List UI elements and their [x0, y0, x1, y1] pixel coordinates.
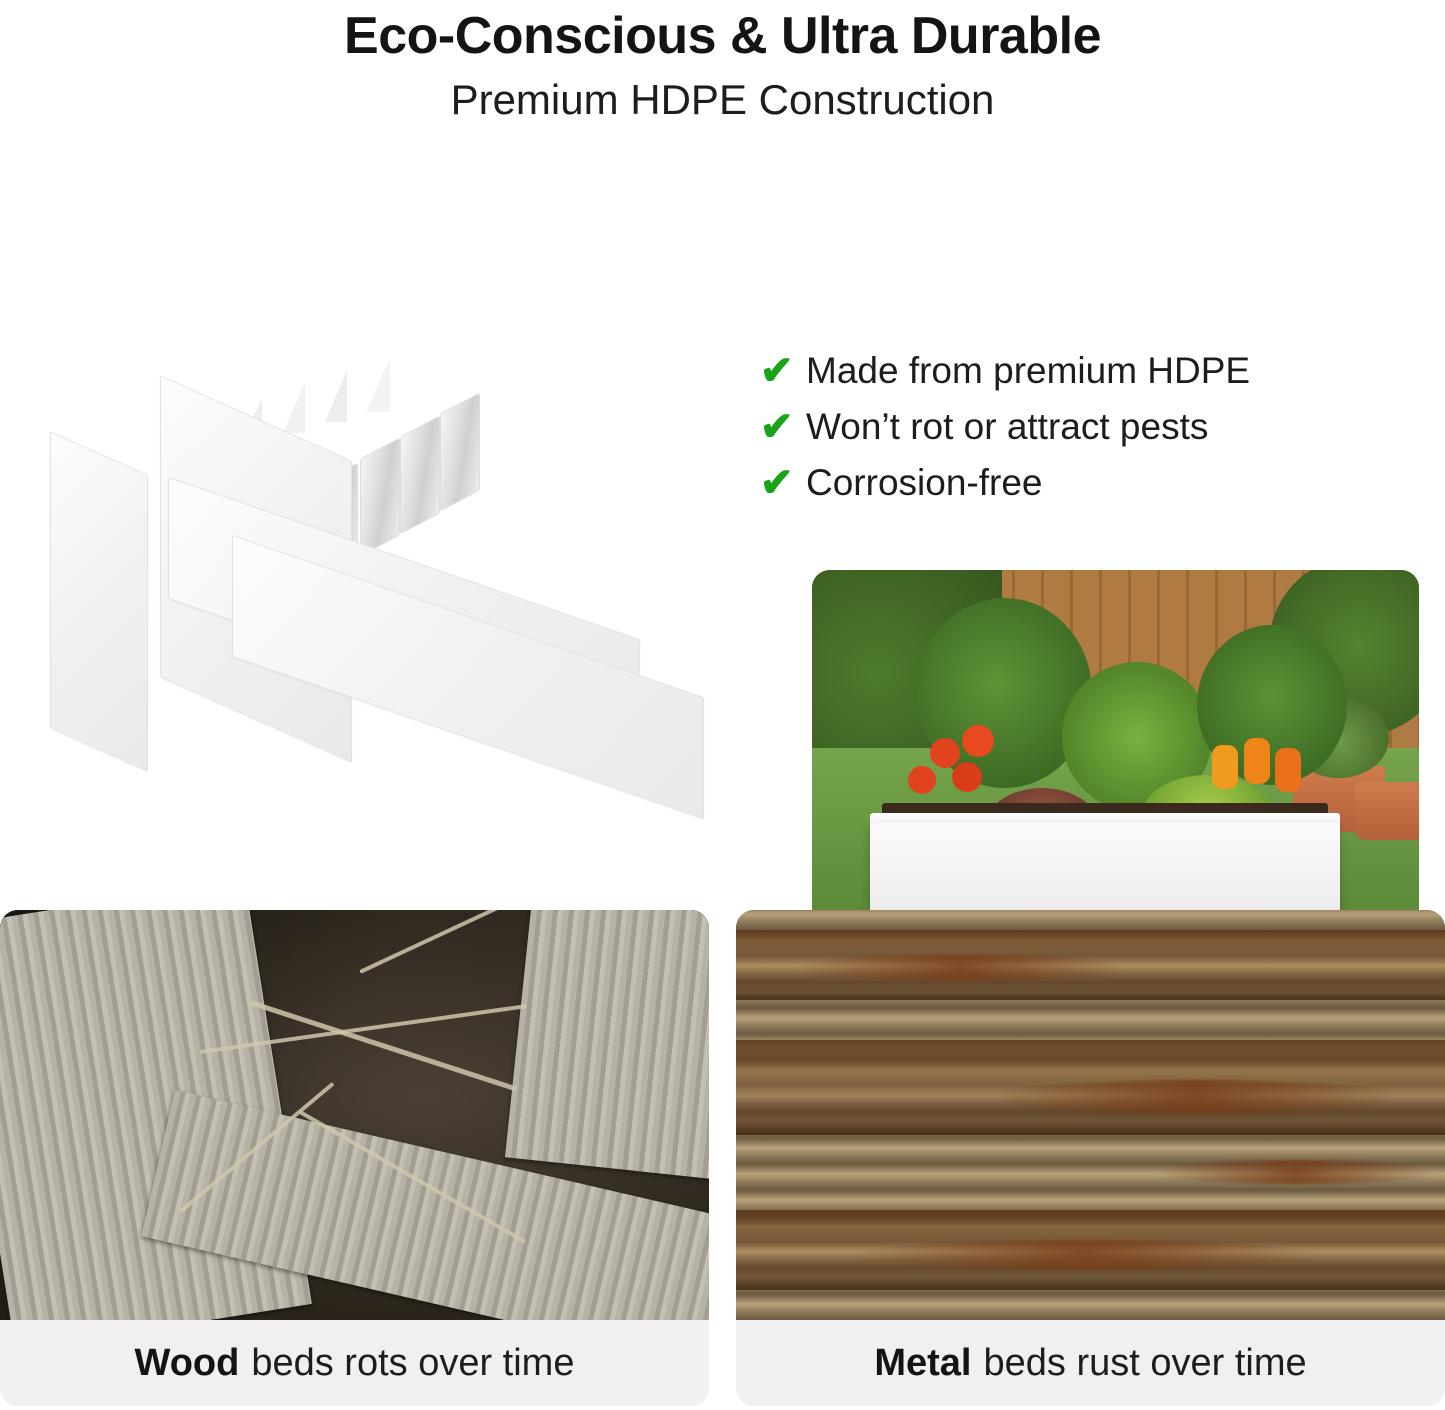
caption-emphasis: Wood [135, 1342, 240, 1385]
rust-streak [796, 955, 1126, 981]
caption-metal: Metal beds rust over time [736, 1320, 1445, 1406]
upper-section: ✔ Made from premium HDPE ✔ Won’t rot or … [0, 128, 1445, 848]
tomato-fruit [962, 725, 994, 757]
header: Eco-Conscious & Ultra Durable Premium HD… [0, 0, 1445, 128]
rust-streak [996, 1080, 1396, 1114]
rust-streak [1156, 1160, 1436, 1184]
feature-item: ✔ Corrosion-free [760, 462, 1420, 504]
wood-rot-photo [0, 910, 709, 1320]
corner-bracket [360, 437, 400, 556]
caption-emphasis: Metal [874, 1342, 971, 1385]
rust-streak [856, 1240, 1316, 1270]
comparison-section: Wood beds rots over time Metal beds rust… [0, 910, 1445, 1410]
check-icon: ✔ [760, 407, 806, 447]
corner-bracket [400, 415, 440, 534]
corner-bracket [440, 392, 480, 511]
shim-triangle-icon [283, 383, 305, 433]
tomato-fruit [908, 766, 936, 794]
end-panel [50, 431, 148, 772]
side-panel [232, 535, 704, 820]
feature-label: Corrosion-free [806, 462, 1042, 504]
tomato-fruit [952, 762, 982, 792]
caption-wood: Wood beds rots over time [0, 1320, 709, 1406]
tomato-fruit [930, 738, 960, 768]
wood-plank [505, 910, 709, 1181]
page-subtitle: Premium HDPE Construction [0, 73, 1445, 128]
parts-illustration [0, 298, 720, 818]
comparison-card-metal: Metal beds rust over time [736, 910, 1445, 1406]
pepper-fruit [1212, 745, 1238, 789]
feature-item: ✔ Won’t rot or attract pests [760, 406, 1420, 448]
comparison-card-wood: Wood beds rots over time [0, 910, 709, 1406]
pepper-fruit [1275, 748, 1301, 792]
page-title: Eco-Conscious & Ultra Durable [0, 8, 1445, 65]
feature-list: ✔ Made from premium HDPE ✔ Won’t rot or … [760, 350, 1420, 518]
shim-triangle-icon [366, 358, 390, 412]
shim-triangle-icon [325, 370, 347, 422]
check-icon: ✔ [760, 463, 806, 503]
caption-text: beds rust over time [984, 1342, 1307, 1385]
pepper-fruit [1244, 738, 1270, 784]
terracotta-pot [1355, 782, 1419, 840]
feature-item: ✔ Made from premium HDPE [760, 350, 1420, 392]
feature-label: Made from premium HDPE [806, 350, 1250, 392]
caption-text: beds rots over time [251, 1342, 574, 1385]
feature-label: Won’t rot or attract pests [806, 406, 1208, 448]
check-icon: ✔ [760, 351, 806, 391]
metal-rust-photo [736, 910, 1445, 1320]
